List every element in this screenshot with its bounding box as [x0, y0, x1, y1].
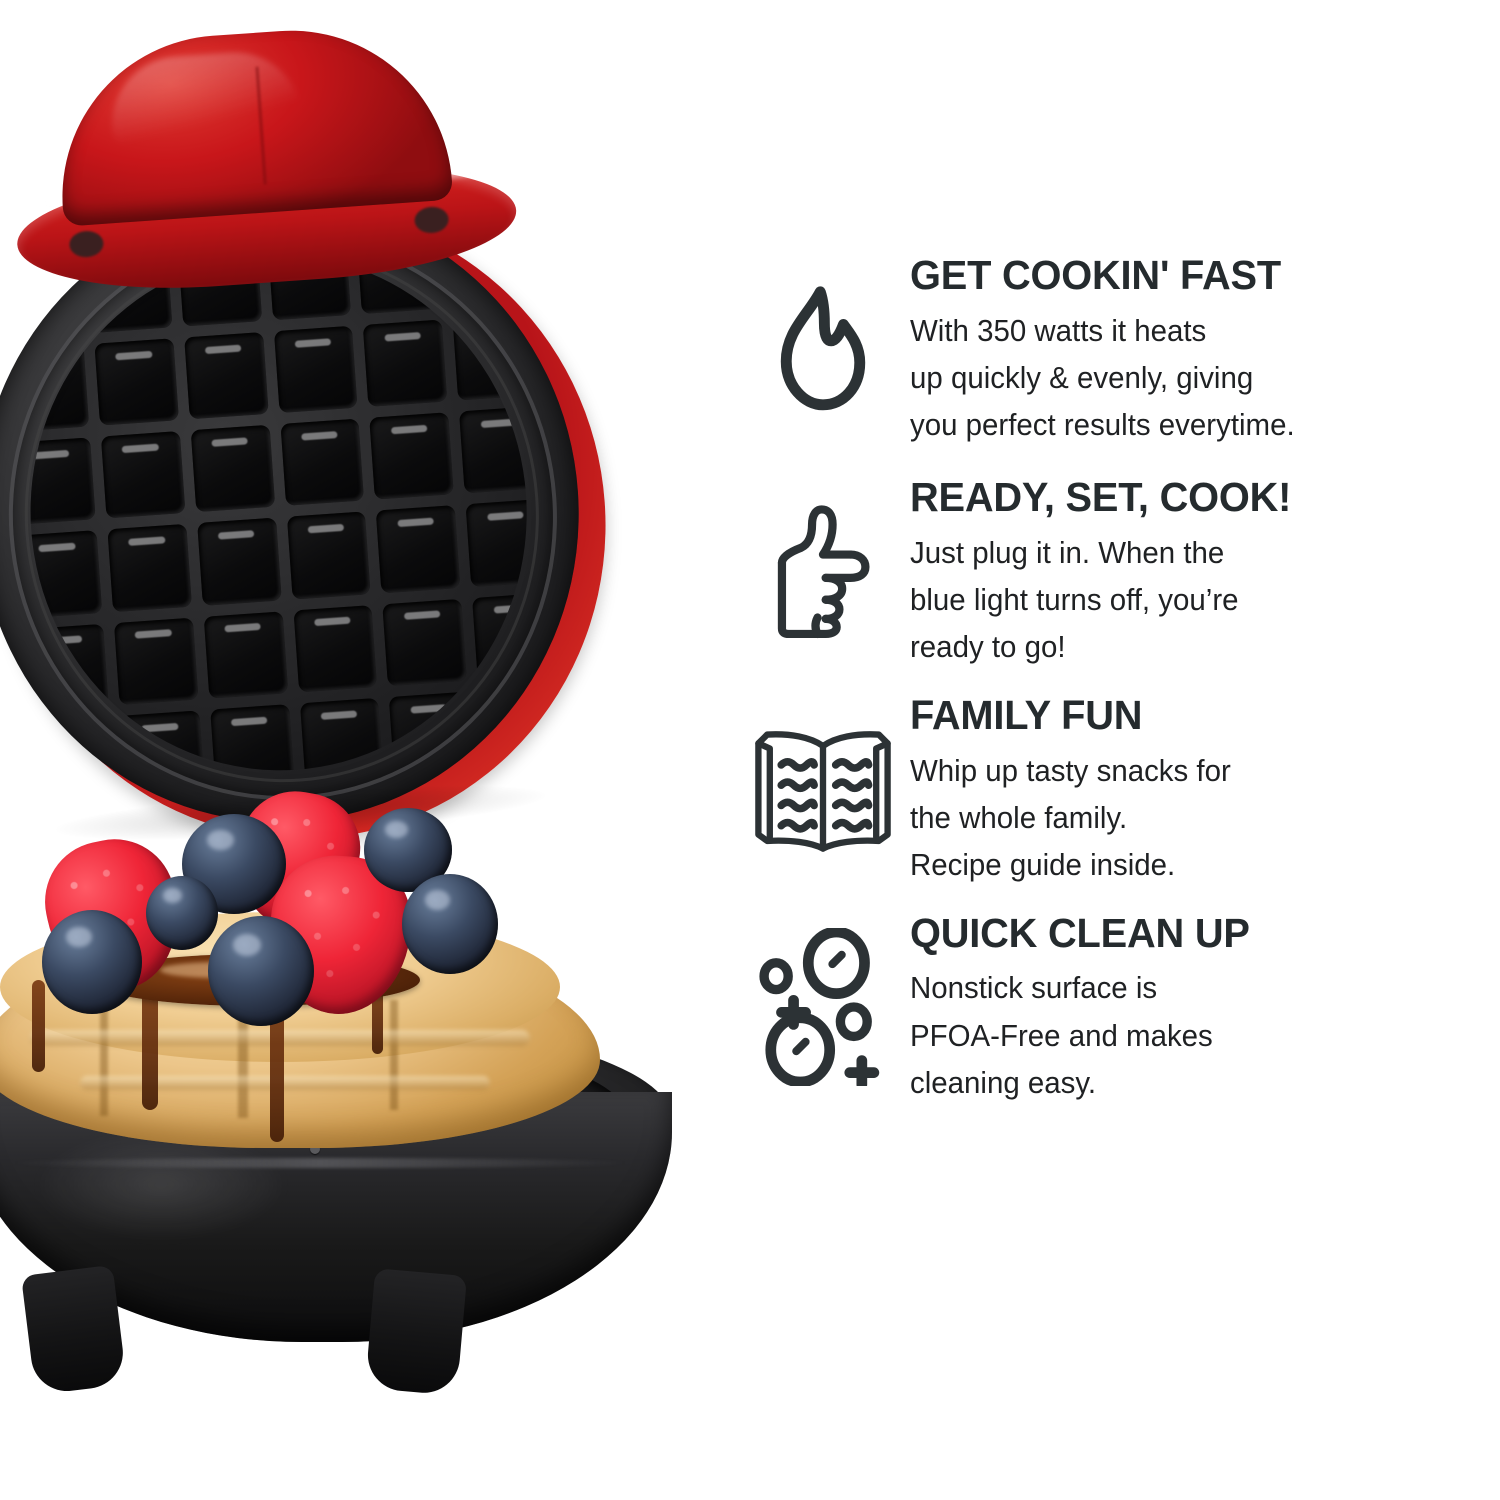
product-feature-page: GET COOKIN' FAST With 350 watts it heats… [0, 0, 1500, 1500]
feature-desc-line: cleaning easy. [910, 1059, 1466, 1106]
base-foot-right [365, 1268, 467, 1396]
feature-title: GET COOKIN' FAST [910, 254, 1477, 297]
feature-desc-line: Whip up tasty snacks for [910, 747, 1466, 794]
feature-desc-line: With 350 watts it heats [910, 307, 1466, 354]
product-photo [0, 0, 720, 1500]
feature-description: Nonstick surface is PFOA-Free and makes … [910, 964, 1466, 1105]
waffle-maker-lid [0, 7, 688, 884]
feature-description: With 350 watts it heats up quickly & eve… [910, 307, 1466, 448]
feature-item-quick-clean-up: QUICK CLEAN UP Nonstick surface is PFOA-… [735, 908, 1495, 1106]
open-book-icon [735, 725, 910, 853]
blueberry [42, 910, 142, 1014]
syrup-drip [142, 988, 158, 1110]
flame-icon [735, 285, 910, 413]
feature-text: READY, SET, COOK! Just plug it in. When … [910, 472, 1495, 670]
feature-text: GET COOKIN' FAST With 350 watts it heats… [910, 250, 1495, 448]
feature-text: QUICK CLEAN UP Nonstick surface is PFOA-… [910, 908, 1495, 1106]
feature-desc-line: Just plug it in. When the [910, 529, 1466, 576]
feature-desc-line: Nonstick surface is [910, 964, 1466, 1011]
blueberry [402, 874, 498, 974]
feature-item-get-cookin-fast: GET COOKIN' FAST With 350 watts it heats… [735, 250, 1495, 448]
syrup-drip [32, 980, 45, 1072]
feature-list: GET COOKIN' FAST With 350 watts it heats… [735, 250, 1495, 1120]
feature-desc-line: the whole family. [910, 794, 1466, 841]
feature-item-ready-set-cook: READY, SET, COOK! Just plug it in. When … [735, 472, 1495, 670]
feature-desc-line: Recipe guide inside. [910, 841, 1466, 888]
feature-desc-line: up quickly & evenly, giving [910, 354, 1466, 401]
blueberry [146, 876, 218, 950]
waffle-seam [100, 998, 108, 1116]
feature-desc-line: ready to go! [910, 623, 1466, 670]
feature-text: FAMILY FUN Whip up tasty snacks for the … [910, 690, 1495, 888]
blueberry [208, 916, 314, 1026]
feature-description: Whip up tasty snacks for the whole famil… [910, 747, 1466, 888]
feature-desc-line: blue light turns off, you’re [910, 576, 1466, 623]
feature-description: Just plug it in. When the blue light tur… [910, 529, 1466, 670]
base-foot-left [21, 1265, 127, 1395]
waffle-with-toppings [0, 880, 650, 1200]
bubbles-icon [735, 928, 910, 1086]
feature-title: QUICK CLEAN UP [910, 912, 1477, 955]
feature-item-family-fun: FAMILY FUN Whip up tasty snacks for the … [735, 690, 1495, 888]
feature-title: FAMILY FUN [910, 694, 1477, 737]
thumbs-up-icon [735, 501, 910, 641]
waffle-seam [390, 1000, 398, 1110]
feature-title: READY, SET, COOK! [910, 476, 1477, 519]
feature-desc-line: PFOA-Free and makes [910, 1012, 1466, 1059]
feature-desc-line: you perfect results everytime. [910, 401, 1466, 448]
